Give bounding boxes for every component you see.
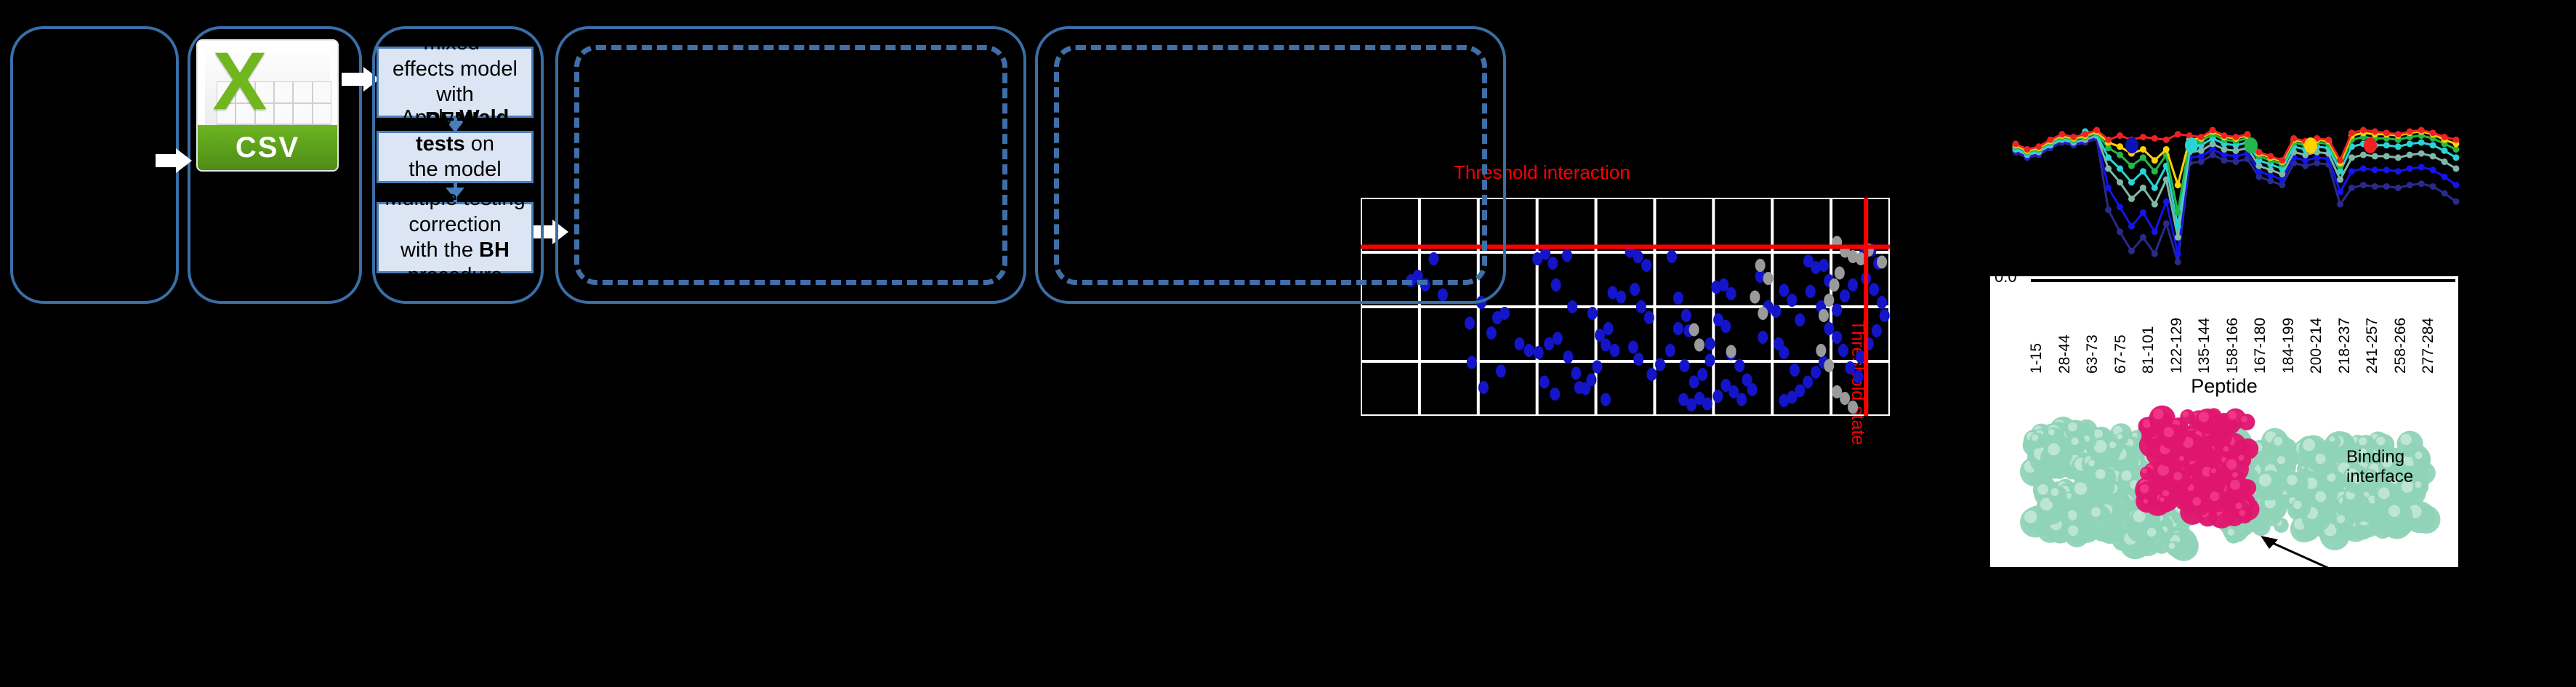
scatter-point-nonsignificant bbox=[1848, 401, 1858, 414]
peptide-point bbox=[2453, 165, 2460, 172]
peptide-tick-122-129: 122-129 bbox=[2168, 318, 2186, 374]
scatter-point-significant bbox=[1601, 393, 1611, 406]
peptide-point bbox=[2140, 234, 2146, 241]
peptide-point bbox=[2163, 146, 2170, 153]
mt-bold-term: BH bbox=[479, 238, 510, 262]
peptide-point bbox=[2337, 157, 2343, 164]
peptide-point bbox=[2047, 137, 2053, 143]
peptide-point bbox=[2395, 131, 2402, 137]
scatter-point-significant bbox=[1779, 284, 1789, 297]
scatter-point-nonsignificant bbox=[1755, 259, 1766, 272]
peptide-point bbox=[2430, 129, 2436, 136]
scatter-point-significant bbox=[1771, 305, 1781, 318]
scatter-point-significant bbox=[1567, 300, 1577, 313]
peptide-tick-241-257: 241-257 bbox=[2364, 318, 2381, 374]
series-dot-red bbox=[2364, 137, 2377, 153]
csv-file-icon[interactable]: X CSV bbox=[198, 41, 337, 170]
peptide-point bbox=[2024, 146, 2030, 153]
scatter-point-significant bbox=[1655, 358, 1665, 371]
peptide-point bbox=[2140, 146, 2146, 153]
peptide-point bbox=[2430, 153, 2436, 159]
scatter-point-significant bbox=[1704, 337, 1715, 350]
scatter-point-nonsignificant bbox=[1816, 344, 1826, 357]
scatter-point-significant bbox=[1553, 332, 1563, 345]
peptide-axis-line bbox=[2031, 279, 2455, 282]
series-dot-blue bbox=[2125, 137, 2138, 153]
peptide-point bbox=[2163, 220, 2170, 227]
peptide-point bbox=[2395, 143, 2402, 150]
peptide-point bbox=[2175, 259, 2181, 265]
peptide-point bbox=[2152, 157, 2158, 164]
scatter-point-significant bbox=[1592, 361, 1602, 374]
scatter-point-significant bbox=[1880, 309, 1890, 322]
peptide-point bbox=[2255, 149, 2262, 156]
scatter-point-significant bbox=[1587, 307, 1598, 320]
peptide-point bbox=[2117, 152, 2123, 158]
peptide-point bbox=[2383, 166, 2390, 173]
peptide-point bbox=[2348, 168, 2355, 174]
peptide-point bbox=[2117, 228, 2123, 235]
scatter-point-significant bbox=[1779, 346, 1789, 359]
scatter-point-significant bbox=[1838, 344, 1848, 357]
binding-interface-annotation: Binding interface bbox=[2346, 448, 2413, 487]
wald-lead: Apply bbox=[401, 106, 460, 129]
scatter-point-significant bbox=[1641, 259, 1651, 272]
scatter-point-nonsignificant bbox=[1824, 294, 1834, 307]
arrow-source-to-csv bbox=[156, 148, 192, 173]
scatter-point-significant bbox=[1811, 366, 1821, 379]
scatter-point-nonsignificant bbox=[1763, 272, 1774, 285]
peptide-point bbox=[2418, 180, 2425, 187]
scatter-point-significant bbox=[1840, 289, 1850, 302]
scatter-point-significant bbox=[1678, 393, 1689, 406]
scatter-point-significant bbox=[1848, 278, 1858, 292]
scatter-point-significant bbox=[1514, 337, 1524, 350]
peptide-point bbox=[2035, 143, 2042, 150]
mt-line1: Multiple testing bbox=[385, 187, 525, 210]
peptide-point bbox=[2163, 137, 2170, 143]
peptide-point bbox=[2407, 152, 2413, 158]
peptide-point bbox=[2128, 179, 2135, 185]
scatter-point-significant bbox=[1601, 339, 1611, 352]
peptide-point bbox=[2117, 179, 2123, 185]
peptide-tick-28-44: 28-44 bbox=[2056, 334, 2074, 374]
figure-canvas: X CSV Fit a linear mixed- effects model … bbox=[0, 0, 2576, 687]
scatter-point-significant bbox=[1673, 322, 1683, 335]
scatter-point-significant bbox=[1872, 324, 1882, 337]
peptide-point bbox=[2325, 137, 2332, 143]
scatter-point-significant bbox=[1779, 394, 1789, 407]
arrow-head bbox=[176, 148, 192, 173]
scatter-point-significant bbox=[1747, 383, 1758, 396]
scatter-point-significant bbox=[1790, 363, 1800, 377]
scatter-point-significant bbox=[1609, 344, 1619, 357]
peptide-point bbox=[2128, 196, 2135, 202]
peptide-point bbox=[2140, 134, 2146, 140]
scatter-point-significant bbox=[1524, 344, 1534, 357]
peptide-point bbox=[2290, 135, 2297, 142]
scatter-point-significant bbox=[1534, 346, 1544, 359]
peptide-point bbox=[2058, 131, 2065, 137]
scatter-point-significant bbox=[1586, 374, 1596, 387]
wald-tests-step-box[interactable]: Apply Wald tests on the model parameters bbox=[377, 131, 534, 183]
peptide-point bbox=[2360, 165, 2367, 172]
peptide-point bbox=[2105, 165, 2112, 172]
peptide-point bbox=[2117, 132, 2123, 139]
scatter-point-significant bbox=[1720, 320, 1731, 333]
fit-model-line2: effects model with bbox=[393, 57, 518, 106]
binding-interface-line2: interface bbox=[2346, 467, 2413, 487]
mt-tail3: procedure bbox=[408, 264, 503, 287]
scatter-point-significant bbox=[1628, 341, 1638, 354]
scatter-point-significant bbox=[1869, 283, 1879, 296]
peptide-point bbox=[2244, 131, 2250, 137]
binding-interface-line1: Binding bbox=[2346, 448, 2413, 467]
scatter-point-nonsignificant bbox=[1824, 359, 1834, 372]
peptide-point bbox=[2105, 206, 2112, 213]
peptide-tick-labels: 1-1528-4463-7367-7581-101122-129135-1441… bbox=[2028, 292, 2455, 379]
scatter-point-significant bbox=[1824, 322, 1834, 335]
scatter-point-significant bbox=[1496, 365, 1506, 378]
peptide-point bbox=[2152, 228, 2158, 235]
scatter-point-significant bbox=[1689, 376, 1699, 389]
scatter-point-nonsignificant bbox=[1726, 345, 1736, 358]
csv-band: CSV bbox=[198, 125, 337, 170]
scatter-point-significant bbox=[1734, 359, 1744, 372]
peptide-point bbox=[2093, 127, 2100, 134]
arrow-shaft bbox=[156, 154, 177, 167]
peptide-tick-135-144: 135-144 bbox=[2196, 318, 2213, 374]
peptide-point bbox=[2430, 142, 2436, 148]
arrow-shaft bbox=[342, 73, 365, 86]
fit-model-line1: Fit a linear mixed- bbox=[406, 6, 504, 55]
structure-panel-inner-dash bbox=[1054, 45, 1487, 285]
peptide-point bbox=[2152, 185, 2158, 191]
peptide-point bbox=[2279, 157, 2285, 164]
peptide-point bbox=[2128, 248, 2135, 254]
peptide-x-axis-label: Peptide bbox=[1990, 375, 2458, 398]
scatter-point-significant bbox=[1550, 387, 1560, 401]
peptide-point bbox=[2383, 129, 2390, 136]
scatter-point-significant bbox=[1877, 296, 1887, 309]
mt-lead3: with the bbox=[401, 238, 479, 262]
scatter-point-significant bbox=[1644, 311, 1654, 324]
source-panel bbox=[10, 26, 179, 304]
scatter-point-significant bbox=[1720, 379, 1731, 392]
peptide-point bbox=[2407, 128, 2413, 134]
peptide-point bbox=[2407, 182, 2413, 188]
scatter-point-significant bbox=[1681, 309, 1691, 322]
peptide-point bbox=[2453, 198, 2460, 205]
scatter-point-significant bbox=[1467, 356, 1477, 369]
peptide-point bbox=[2442, 148, 2448, 154]
peptide-point bbox=[2175, 182, 2181, 188]
scatter-point-significant bbox=[1571, 367, 1581, 380]
csv-band-label: CSV bbox=[236, 132, 299, 164]
peptide-point bbox=[2372, 166, 2378, 173]
peptide-point bbox=[2152, 135, 2158, 142]
peptide-tick-277-284: 277-284 bbox=[2420, 318, 2437, 374]
excel-x-glyph: X bbox=[205, 42, 275, 124]
peptide-tick-81-101: 81-101 bbox=[2140, 326, 2157, 374]
scatter-point-significant bbox=[1697, 368, 1707, 381]
scatter-point-significant bbox=[1486, 326, 1497, 340]
scatter-point-significant bbox=[1832, 304, 1842, 317]
scatter-point-significant bbox=[1539, 376, 1550, 389]
peptide-tick-200-214: 200-214 bbox=[2308, 318, 2325, 374]
peptide-point bbox=[2418, 150, 2425, 157]
peptide-point bbox=[2360, 127, 2367, 134]
peptide-point bbox=[2442, 158, 2448, 165]
peptide-structure-inset: 0.0 1-1528-4463-7367-7581-101122-129135-… bbox=[1990, 276, 2458, 567]
scatter-point-significant bbox=[1845, 361, 1855, 374]
peptide-point bbox=[2140, 168, 2146, 174]
scatter-point-significant bbox=[1667, 250, 1677, 263]
peptide-point bbox=[2383, 153, 2390, 159]
visualisation-panel-inner-dash bbox=[574, 45, 1007, 285]
peptide-point bbox=[2175, 131, 2181, 137]
peptide-point bbox=[2117, 143, 2123, 150]
scatter-point-significant bbox=[1465, 317, 1475, 330]
structure-panel bbox=[1035, 26, 1506, 304]
peptide-point bbox=[2233, 134, 2239, 140]
scatter-point-significant bbox=[1832, 331, 1842, 344]
peptide-point bbox=[2418, 140, 2425, 146]
scatter-point-nonsignificant bbox=[1835, 267, 1845, 280]
peptide-point bbox=[2105, 137, 2112, 143]
peptide-tick-258-266: 258-266 bbox=[2392, 318, 2410, 374]
peptide-point bbox=[2013, 140, 2019, 147]
peptide-point bbox=[2418, 164, 2425, 171]
scatter-point-significant bbox=[1603, 322, 1614, 335]
peptide-point bbox=[2175, 209, 2181, 216]
scatter-point-nonsignificant bbox=[1840, 392, 1850, 405]
peptide-point bbox=[2430, 183, 2436, 190]
peptide-point bbox=[2152, 201, 2158, 208]
peptide-point bbox=[2453, 154, 2460, 161]
peptide-point bbox=[2198, 134, 2205, 140]
peptide-point bbox=[2372, 153, 2378, 159]
scatter-point-significant bbox=[1562, 249, 1572, 262]
peptide-point bbox=[2372, 183, 2378, 190]
peptide-point bbox=[2175, 223, 2181, 230]
peptide-point bbox=[2128, 223, 2135, 230]
peptide-point bbox=[2337, 177, 2343, 183]
peptide-point bbox=[2348, 154, 2355, 161]
scatter-point-significant bbox=[1806, 285, 1816, 298]
scatter-point-significant bbox=[1551, 278, 1561, 292]
ligand-surface-blobs bbox=[2135, 406, 2259, 529]
scatter-point-nonsignificant bbox=[1877, 256, 1887, 269]
peptide-point bbox=[2395, 185, 2402, 191]
series-dot-cyan bbox=[2185, 137, 2198, 153]
peptide-point bbox=[2442, 134, 2448, 140]
peptide-point bbox=[2140, 209, 2146, 216]
scatter-point-significant bbox=[1547, 257, 1558, 270]
peptide-point bbox=[2267, 153, 2274, 159]
peptide-point bbox=[2163, 198, 2170, 205]
peptide-point bbox=[2407, 140, 2413, 147]
peptide-tick-218-237: 218-237 bbox=[2336, 318, 2354, 374]
scatter-point-nonsignificant bbox=[1758, 307, 1768, 320]
peptide-point bbox=[2140, 154, 2146, 161]
scatter-point-significant bbox=[1673, 292, 1683, 305]
peptide-tick-184-199: 184-199 bbox=[2280, 318, 2298, 374]
scatter-point-significant bbox=[1633, 353, 1643, 366]
peptide-point bbox=[2453, 182, 2460, 188]
peptide-tick-67-75: 67-75 bbox=[2112, 334, 2130, 374]
peptide-tick-1-15: 1-15 bbox=[2028, 343, 2045, 374]
scatter-point-significant bbox=[1633, 250, 1643, 263]
peptide-point bbox=[2348, 185, 2355, 191]
scatter-point-nonsignificant bbox=[1819, 309, 1829, 322]
peptide-point bbox=[2383, 142, 2390, 148]
peptide-point bbox=[2210, 127, 2216, 134]
peptide-point bbox=[2453, 137, 2460, 143]
series-dot-green bbox=[2245, 137, 2258, 153]
peptide-point bbox=[2070, 134, 2077, 140]
scatter-point-significant bbox=[1636, 300, 1646, 313]
scatter-point-significant bbox=[1563, 350, 1573, 363]
peptide-point bbox=[2337, 189, 2343, 196]
peptide-point bbox=[2360, 182, 2367, 188]
peptide-point bbox=[2348, 129, 2355, 136]
peptide-point bbox=[2105, 154, 2112, 161]
scatter-point-significant bbox=[1646, 368, 1657, 381]
scatter-point-significant bbox=[1500, 307, 1510, 320]
scatter-point-significant bbox=[1665, 344, 1675, 357]
peptide-point bbox=[2395, 154, 2402, 161]
scatter-point-significant bbox=[1630, 283, 1640, 296]
peptide-point bbox=[2152, 251, 2158, 257]
scatter-point-significant bbox=[1478, 381, 1489, 394]
scatter-point-nonsignificant bbox=[1689, 324, 1699, 337]
scatter-point-significant bbox=[1758, 331, 1768, 344]
visualisation-panel bbox=[555, 26, 1026, 304]
series-dot-yellow bbox=[2304, 137, 2317, 153]
peptide-point bbox=[2395, 168, 2402, 174]
peptide-point bbox=[2418, 127, 2425, 134]
scatter-point-significant bbox=[1680, 359, 1690, 372]
peptide-tick-63-73: 63-73 bbox=[2084, 334, 2101, 374]
scatter-point-significant bbox=[1787, 294, 1797, 307]
peptide-point bbox=[2360, 152, 2367, 158]
peptide-point bbox=[2082, 131, 2088, 137]
peptide-point bbox=[2117, 204, 2123, 210]
multiple-testing-step-box[interactable]: Multiple testing correction with the BH … bbox=[377, 202, 534, 273]
peptide-point bbox=[2383, 183, 2390, 190]
peptide-point bbox=[2128, 163, 2135, 169]
peptide-point bbox=[2372, 128, 2378, 134]
scatter-point-nonsignificant bbox=[1750, 291, 1760, 304]
scatter-point-significant bbox=[1712, 390, 1723, 403]
peptide-point bbox=[2442, 190, 2448, 196]
peptide-point bbox=[2175, 251, 2181, 257]
peptide-line-chart[interactable] bbox=[1995, 122, 2460, 268]
mt-line2: correction bbox=[408, 213, 501, 236]
scatter-point-significant bbox=[1704, 354, 1715, 367]
scatter-point-significant bbox=[1819, 259, 1829, 272]
scatter-point-nonsignificant bbox=[1830, 278, 1840, 292]
peptide-y-tick-0: 0.0 bbox=[1995, 276, 2017, 286]
peptide-tick-167-180: 167-180 bbox=[2252, 318, 2269, 374]
peptide-point bbox=[2117, 165, 2123, 172]
peptide-point bbox=[2175, 234, 2181, 241]
peptide-point bbox=[2430, 166, 2436, 173]
scatter-point-significant bbox=[1795, 313, 1805, 326]
scatter-point-nonsignificant bbox=[1694, 339, 1704, 352]
peptide-point bbox=[2221, 132, 2228, 139]
peptide-point bbox=[2140, 185, 2146, 191]
peptide-point bbox=[2105, 185, 2112, 191]
peptide-point bbox=[2442, 174, 2448, 180]
scatter-point-significant bbox=[1853, 370, 1863, 383]
scatter-point-significant bbox=[1803, 376, 1813, 389]
peptide-point bbox=[2152, 168, 2158, 174]
scatter-point-significant bbox=[1616, 291, 1626, 304]
peptide-tick-158-166: 158-166 bbox=[2224, 318, 2242, 374]
wald-tail: on bbox=[465, 132, 494, 156]
peptide-point bbox=[2337, 201, 2343, 208]
scatter-point-significant bbox=[1726, 287, 1736, 300]
peptide-point bbox=[2407, 165, 2413, 172]
